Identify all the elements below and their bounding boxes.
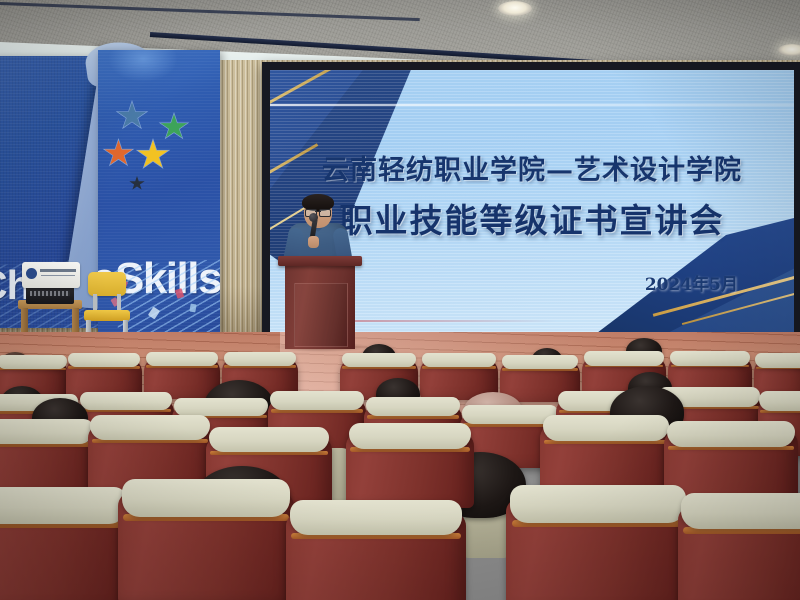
seat	[506, 498, 690, 600]
seat	[678, 506, 800, 600]
equipment-indicator-lights	[30, 291, 70, 296]
auditorium-photo: Chs aSkills	[0, 0, 800, 600]
slide-title-line2: 职业技能等级证书宣讲会	[270, 194, 794, 242]
microphone-head-icon	[309, 213, 318, 222]
podium-top	[278, 256, 362, 266]
seat	[118, 492, 294, 600]
chair-backrest	[88, 272, 126, 296]
downlight-icon	[498, 1, 532, 16]
slide-date: 2024年5月	[645, 270, 738, 295]
speaker-hand	[308, 236, 319, 248]
seat	[0, 500, 130, 600]
screen-horizon-line	[270, 104, 794, 106]
equipment-label-text	[40, 269, 76, 272]
podium-panel-inset	[294, 283, 348, 347]
equipment-logo-icon	[26, 268, 37, 279]
podium-body	[285, 265, 355, 349]
seat	[346, 432, 474, 508]
downlight-icon	[778, 44, 800, 56]
av-equipment-panel	[22, 262, 80, 288]
seat	[286, 512, 466, 600]
podium	[282, 256, 358, 348]
slide-title-line1: 云南轻纺职业学院—艺术设计学院	[270, 148, 794, 187]
